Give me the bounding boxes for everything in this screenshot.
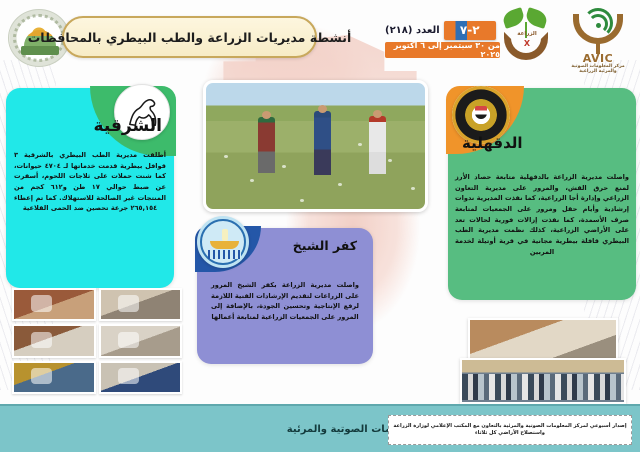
issue-badge: ٢-٧ العدد (٢١٨) من ٣٠ سبتمبر إلى ٦ أكتوب… [385, 20, 500, 62]
footer: f ◎ 𝕏 ▶ ➤ مركز المعلومات الصوتية والمرئي… [0, 404, 640, 452]
governorate-name-dakahlia: الدقهلية [462, 134, 523, 152]
vet-photo-1 [99, 288, 183, 321]
zeraa-line-2: كل مصر [512, 50, 542, 58]
zeraa-kol-masr-logo: الزراعة X كل مصر [500, 8, 552, 66]
zeraa-logo-text: الزراعة X كل مصر [512, 30, 542, 59]
governorate-text-kafr-elsheikh: واصلت مديرية الزراعة بكفر الشيخ المرور ع… [211, 280, 359, 323]
governorate-card-sharqia: الشرقية أطلقت مديرية الطب البيطري بالشرق… [6, 88, 174, 288]
person-3 [369, 116, 386, 174]
emblem-base [21, 46, 59, 55]
leaf-right-icon [524, 7, 549, 29]
governorate-name-kafr-elsheikh: كفر الشيخ [293, 238, 357, 253]
avic-logo: AVIC مركز المعلومات الصوتية والمرئية الز… [566, 6, 630, 72]
kafr-elsheikh-emblem [197, 216, 249, 268]
sail-icon [222, 229, 228, 241]
footer-disclaimer-text: إصدار أسبوعي لمركز المعلومات الصوتية وال… [393, 423, 627, 437]
avic-subtitle: مركز المعلومات الصوتية والمرئية الزراعية [566, 64, 630, 74]
issue-label: العدد (٢١٨) [385, 25, 440, 36]
infographic-page: أنشطة مديريات الزراعة والطب البيطري بالم… [0, 0, 640, 452]
avic-signal-dot-icon [596, 23, 601, 28]
zeraa-x: X [512, 38, 542, 50]
issue-date-range: من ٣٠ سبتمبر إلى ٦ أكتوبر ٢٠٢٥ [385, 42, 500, 58]
governorate-text-sharqia: أطلقت مديرية الطب البيطري بالشرقية ٣ قوا… [14, 150, 166, 214]
governorate-card-dakahlia: الدقهلية واصلت مديرية الزراعة بالدقهلية … [448, 88, 636, 300]
waves-icon [208, 250, 241, 259]
vet-photo-6 [12, 361, 96, 394]
footer-disclaimer: إصدار أسبوعي لمركز المعلومات الصوتية وال… [388, 415, 632, 445]
vet-photo-3 [99, 324, 183, 357]
issue-row: ٢-٧ العدد (٢١٨) [385, 20, 500, 40]
dakahlia-emblem-shield [475, 106, 487, 119]
header: أنشطة مديريات الزراعة والطب البيطري بالم… [0, 0, 640, 76]
page-title: أنشطة مديريات الزراعة والطب البيطري بالم… [62, 16, 317, 58]
zeraa-line-1: الزراعة [512, 30, 542, 38]
kafr-emblem-ring [200, 219, 246, 265]
vet-photo-5 [99, 361, 183, 394]
field-gathering-photo [460, 358, 626, 404]
governorate-text-dakahlia: واصلت مديرية الزراعة بالدقهلية متابعة حص… [455, 172, 629, 257]
governorate-name-sharqia: الشرقية [94, 116, 162, 136]
crowd-silhouette [462, 374, 624, 400]
veterinary-activities-photo-grid [12, 288, 182, 394]
vet-photo-2 [12, 288, 96, 321]
cotton-field-inspection-photo [203, 80, 428, 212]
page-title-text: أنشطة مديريات الزراعة والطب البيطري بالم… [28, 30, 351, 45]
person-1 [258, 117, 275, 173]
leaf-left-icon [501, 7, 526, 29]
boat-icon [210, 241, 239, 249]
issue-number: ٢-٧ [444, 21, 496, 40]
governorate-card-kafr-elsheikh: كفر الشيخ واصلت مديرية الزراعة بكفر الشي… [197, 228, 373, 364]
vet-photo-4 [12, 324, 96, 357]
person-2 [314, 111, 331, 175]
